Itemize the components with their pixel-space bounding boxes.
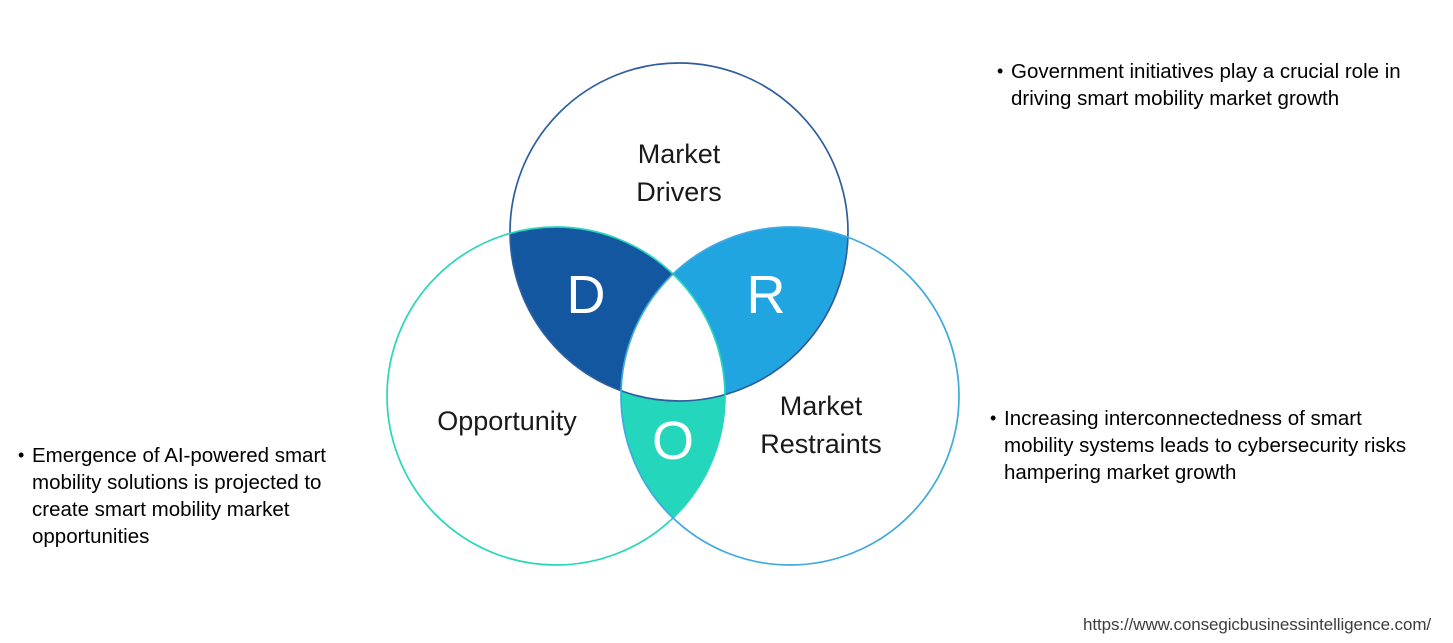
venn-label-market-restraints-line2: Restraints xyxy=(760,429,882,459)
callout-market-restraints: • Increasing interconnectedness of smart… xyxy=(990,405,1430,486)
bullet-icon: • xyxy=(997,58,1011,85)
venn-letter-d: D xyxy=(567,265,606,325)
venn-diagram: D R O Market Drivers Opportunity Market … xyxy=(370,45,980,585)
venn-label-market-drivers-line1: Market xyxy=(638,139,721,169)
venn-letter-o: O xyxy=(652,411,694,471)
callout-opportunity: • Emergence of AI-powered smart mobility… xyxy=(18,442,368,550)
bullet-icon: • xyxy=(18,442,32,469)
callout-market-drivers: • Government initiatives play a crucial … xyxy=(997,58,1437,112)
venn-letter-r: R xyxy=(747,265,786,325)
venn-svg: D R O Market Drivers Opportunity Market … xyxy=(370,45,980,585)
source-url[interactable]: https://www.consegicbusinessintelligence… xyxy=(1083,615,1431,635)
venn-label-opportunity: Opportunity xyxy=(437,406,577,436)
venn-infographic-page: D R O Market Drivers Opportunity Market … xyxy=(0,0,1453,643)
callout-market-drivers-text: Government initiatives play a crucial ro… xyxy=(1011,58,1437,112)
venn-label-market-restraints-line1: Market xyxy=(780,391,863,421)
venn-label-market-drivers-line2: Drivers xyxy=(636,177,722,207)
callout-opportunity-text: Emergence of AI-powered smart mobility s… xyxy=(32,442,368,550)
bullet-icon: • xyxy=(990,405,1004,432)
callout-market-restraints-text: Increasing interconnectedness of smart m… xyxy=(1004,405,1430,486)
